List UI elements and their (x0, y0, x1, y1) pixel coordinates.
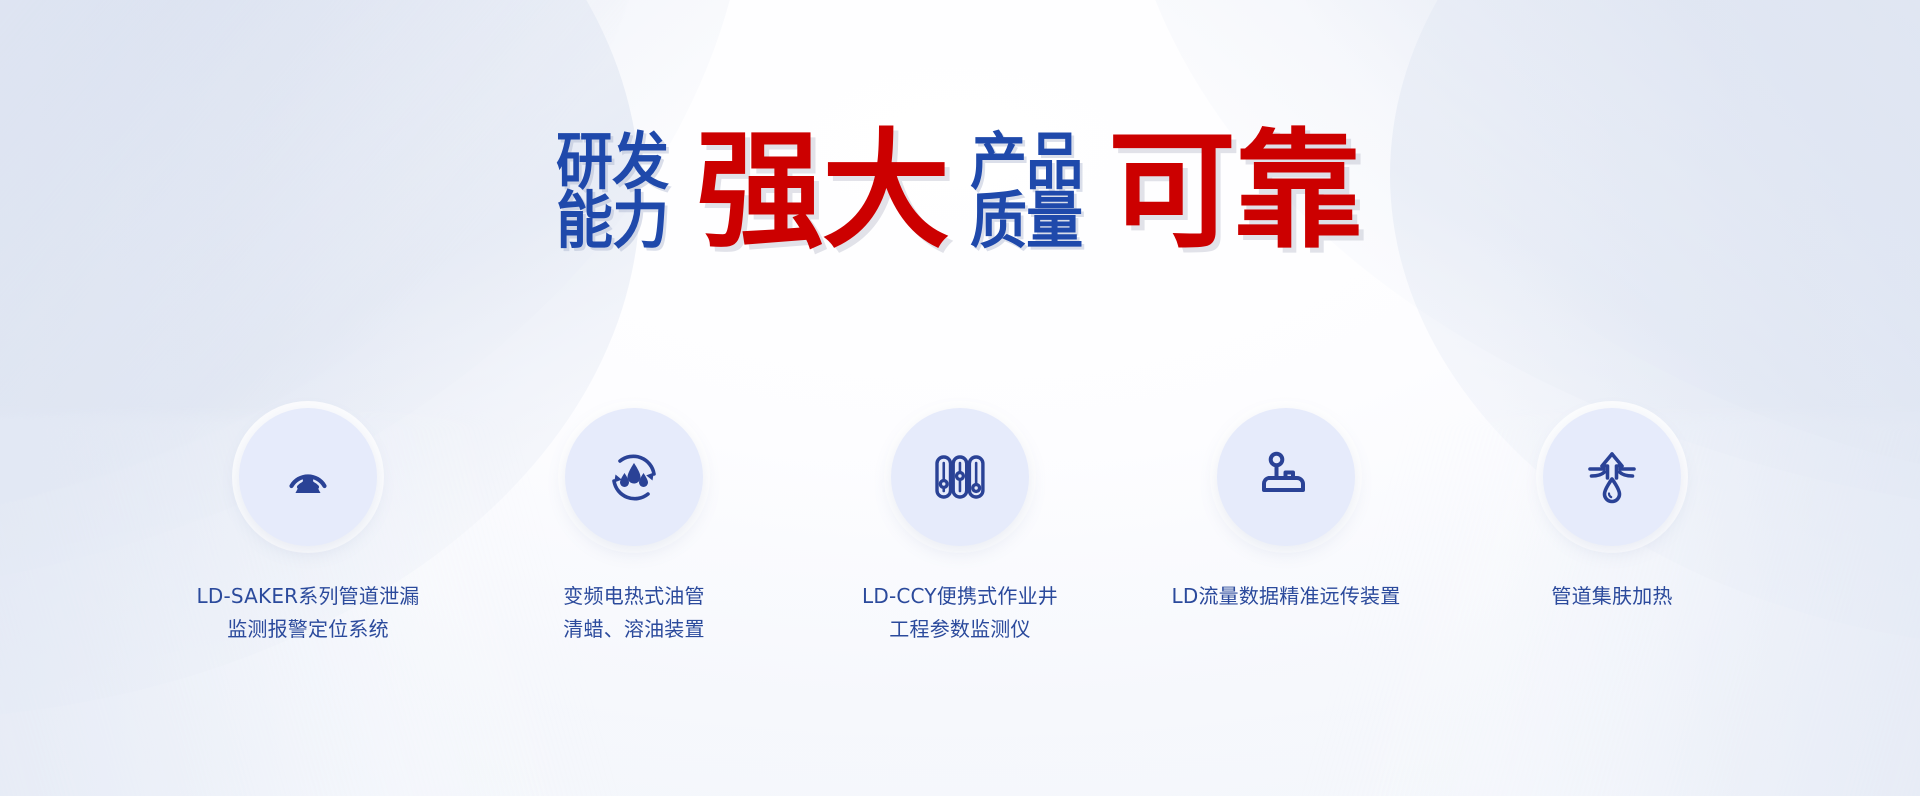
feature-icon-circle[interactable] (565, 408, 703, 546)
headline-group-quality: 产品 质量 (970, 133, 1082, 256)
headline-group-rnd: 研发 能力 (556, 133, 668, 256)
headline-rnd-line2: 能力 (556, 192, 668, 250)
feature-item[interactable]: LD-SAKER系列管道泄漏 监测报警定位系统 (174, 408, 442, 646)
vertical-sliders-icon (928, 445, 992, 509)
background-vignette-left (0, 0, 420, 796)
feature-caption-line: LD-CCY便携式作业井 (862, 580, 1058, 613)
feature-caption-line: 变频电热式油管 (563, 580, 704, 613)
feature-item[interactable]: 管道集肤加热 (1478, 408, 1746, 646)
feature-item[interactable]: LD流量数据精准远传装置 (1152, 408, 1420, 646)
feature-caption-line: 工程参数监测仪 (862, 613, 1058, 646)
headline-quality-line2: 质量 (970, 192, 1082, 250)
headline-emphasis-reliable: 可靠 (1108, 128, 1360, 256)
background-vignette-right (1500, 0, 1920, 796)
feature-list: LD-SAKER系列管道泄漏 监测报警定位系统 (174, 408, 1746, 646)
antenna-transmitter-icon (1254, 445, 1318, 509)
headline: 研发 能力 强大 产品 质量 可靠 (0, 128, 1920, 256)
feature-item[interactable]: LD-CCY便携式作业井 工程参数监测仪 (826, 408, 1094, 646)
feature-caption: LD流量数据精准远传装置 (1172, 580, 1401, 613)
feature-caption-line: LD-SAKER系列管道泄漏 (197, 580, 420, 613)
feature-caption: 管道集肤加热 (1551, 580, 1672, 613)
arrow-up-droplet-icon (1580, 445, 1644, 509)
feature-caption: LD-CCY便携式作业井 工程参数监测仪 (862, 580, 1058, 646)
feature-icon-circle[interactable] (891, 408, 1029, 546)
feature-caption-line: LD流量数据精准远传装置 (1172, 580, 1401, 613)
headline-emphasis-strong: 强大 (696, 128, 948, 256)
feature-caption-line: 监测报警定位系统 (197, 613, 420, 646)
water-drops-recycle-icon (602, 445, 666, 509)
feature-icon-circle[interactable] (1543, 408, 1681, 546)
feature-icon-circle[interactable] (1217, 408, 1355, 546)
feature-caption-line: 清蜡、溶油装置 (563, 613, 704, 646)
signal-waves-icon (276, 445, 340, 509)
feature-caption: LD-SAKER系列管道泄漏 监测报警定位系统 (197, 580, 420, 646)
promo-banner: 研发 能力 强大 产品 质量 可靠 (0, 0, 1920, 796)
feature-caption: 变频电热式油管 清蜡、溶油装置 (563, 580, 704, 646)
feature-icon-circle[interactable] (239, 408, 377, 546)
feature-item[interactable]: 变频电热式油管 清蜡、溶油装置 (500, 408, 768, 646)
feature-caption-line: 管道集肤加热 (1551, 580, 1672, 613)
